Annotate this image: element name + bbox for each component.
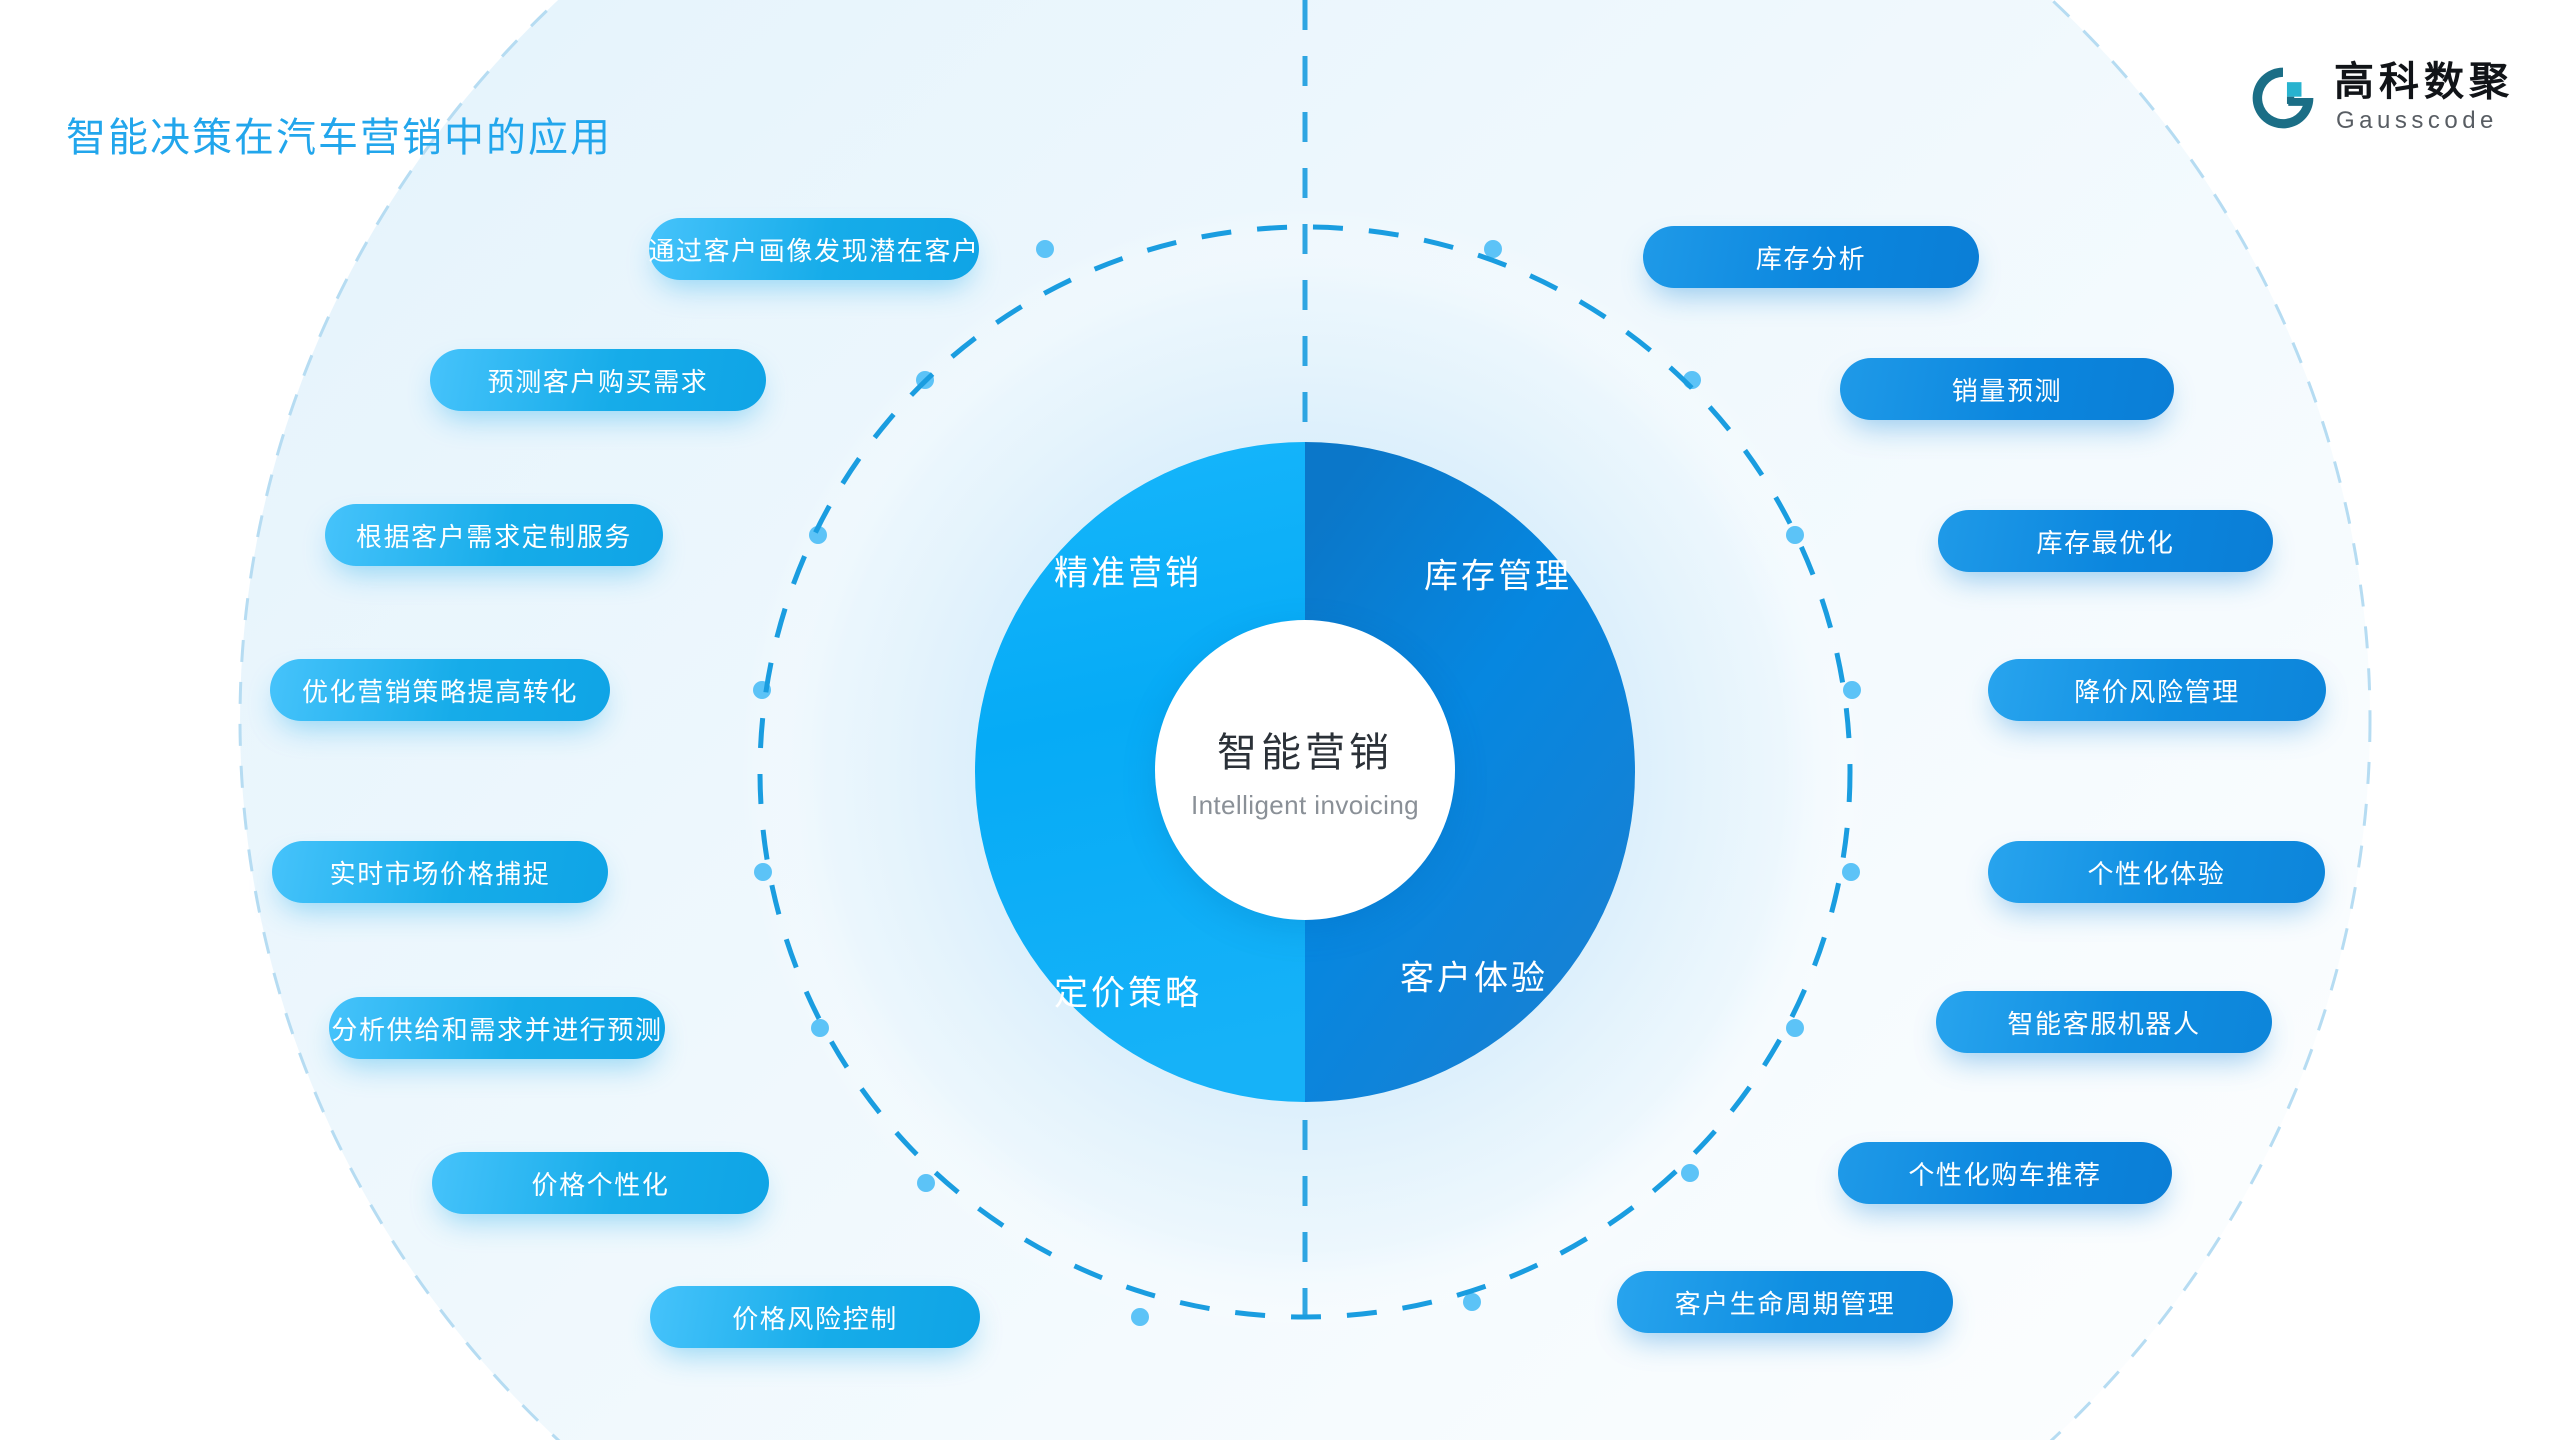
- label-pill-text: 根据客户需求定制服务: [356, 517, 632, 554]
- infographic-canvas: 精准营销 库存管理 定价策略 客户体验 智能营销 Intelligent inv…: [0, 0, 2560, 1440]
- label-pill-right-7[interactable]: 个性化购车推荐: [1838, 1142, 2172, 1204]
- quadrant-label-inventory-management: 库存管理: [1424, 549, 1572, 598]
- connector-dot-right-1: [1484, 240, 1502, 258]
- connector-dot-right-6: [1786, 1019, 1804, 1037]
- label-pill-left-3[interactable]: 根据客户需求定制服务: [325, 504, 663, 566]
- connector-dot-left-5: [754, 863, 772, 881]
- label-pill-text: 通过客户画像发现潜在客户: [648, 231, 979, 268]
- label-pill-text: 个性化购车推荐: [1908, 1155, 2101, 1192]
- connector-dot-right-8: [1463, 1293, 1481, 1311]
- quadrant-label-customer-experience: 客户体验: [1400, 951, 1548, 1000]
- connector-dot-left-6: [811, 1019, 829, 1037]
- label-pill-right-5[interactable]: 个性化体验: [1988, 841, 2325, 903]
- label-pill-text: 降价风险管理: [2074, 672, 2240, 709]
- label-pill-left-6[interactable]: 分析供给和需求并进行预测: [329, 997, 665, 1059]
- connector-dot-right-2: [1683, 371, 1701, 389]
- label-pill-text: 库存最优化: [2036, 523, 2174, 560]
- label-pill-left-4[interactable]: 优化营销策略提高转化: [270, 659, 610, 721]
- label-pill-right-3[interactable]: 库存最优化: [1938, 510, 2273, 572]
- connector-dot-right-4: [1843, 681, 1861, 699]
- label-pill-right-4[interactable]: 降价风险管理: [1988, 659, 2326, 721]
- connector-dot-left-1: [1036, 240, 1054, 258]
- label-pill-left-2[interactable]: 预测客户购买需求: [430, 349, 766, 411]
- label-pill-text: 库存分析: [1756, 239, 1866, 276]
- center-hub-title: 智能营销: [1217, 720, 1393, 778]
- label-pill-text: 个性化体验: [2087, 854, 2225, 891]
- connector-dot-left-8: [1131, 1308, 1149, 1326]
- quadrant-label-precision-marketing: 精准营销: [1054, 546, 1202, 595]
- connector-dot-right-3: [1786, 526, 1804, 544]
- connector-dot-left-7: [917, 1174, 935, 1192]
- label-pill-text: 优化营销策略提高转化: [302, 672, 578, 709]
- center-hub-subtitle: Intelligent invoicing: [1191, 790, 1419, 821]
- connector-dot-left-3: [809, 526, 827, 544]
- gausscode-g-logo-icon: [2250, 65, 2316, 131]
- brand-logo: 高科数聚 Gausscode: [2250, 62, 2514, 133]
- label-pill-right-1[interactable]: 库存分析: [1643, 226, 1979, 288]
- label-pill-left-5[interactable]: 实时市场价格捕捉: [272, 841, 608, 903]
- label-pill-left-1[interactable]: 通过客户画像发现潜在客户: [649, 218, 979, 280]
- label-pill-text: 预测客户购买需求: [488, 362, 709, 399]
- label-pill-left-8[interactable]: 价格风险控制: [650, 1286, 980, 1348]
- label-pill-right-6[interactable]: 智能客服机器人: [1936, 991, 2272, 1053]
- label-pill-text: 价格风险控制: [732, 1299, 898, 1336]
- label-pill-text: 价格个性化: [531, 1165, 669, 1202]
- label-pill-right-2[interactable]: 销量预测: [1840, 358, 2174, 420]
- label-pill-text: 销量预测: [1952, 371, 2062, 408]
- label-pill-text: 实时市场价格捕捉: [330, 854, 551, 891]
- label-pill-left-7[interactable]: 价格个性化: [432, 1152, 769, 1214]
- logo-text-cn: 高科数聚: [2334, 62, 2514, 102]
- label-pill-text: 智能客服机器人: [2007, 1004, 2200, 1041]
- center-hub: 智能营销 Intelligent invoicing: [1155, 620, 1455, 920]
- label-pill-right-8[interactable]: 客户生命周期管理: [1617, 1271, 1953, 1333]
- connector-dot-left-2: [916, 371, 934, 389]
- label-pill-text: 分析供给和需求并进行预测: [331, 1010, 662, 1047]
- quadrant-label-pricing-strategy: 定价策略: [1054, 966, 1202, 1015]
- connector-dot-right-7: [1681, 1164, 1699, 1182]
- label-pill-text: 客户生命周期管理: [1675, 1284, 1896, 1321]
- logo-text-en: Gausscode: [2334, 109, 2514, 133]
- connector-dot-right-5: [1842, 863, 1860, 881]
- page-title: 智能决策在汽车营销中的应用: [66, 105, 612, 163]
- connector-dot-left-4: [753, 681, 771, 699]
